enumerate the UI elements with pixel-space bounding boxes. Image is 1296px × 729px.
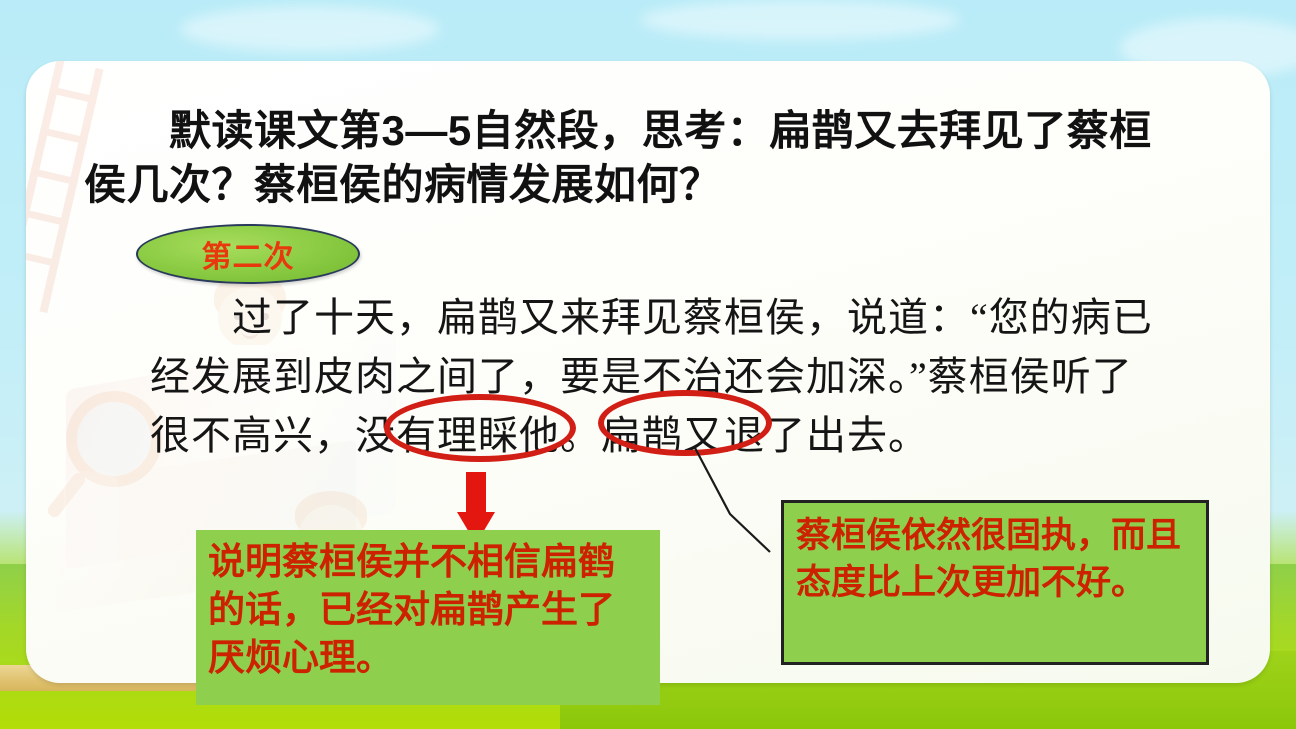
badge-label: 第二次 bbox=[202, 232, 295, 276]
child-illustration bbox=[46, 431, 142, 591]
presentation-slide: 默读课文第3—5自然段，思考：扁鹊又去拜见了蔡桓侯几次？蔡桓侯的病情发展如何？ … bbox=[0, 0, 1296, 729]
annotation-note-right: 蔡桓侯依然很固执，而且态度比上次更加不好。 bbox=[781, 500, 1209, 665]
highlight-ellipse-1 bbox=[384, 394, 576, 462]
page-title: 默读课文第3—5自然段，思考：扁鹊又去拜见了蔡桓侯几次？蔡桓侯的病情发展如何？ bbox=[84, 104, 1174, 212]
status-badge: 第二次 bbox=[136, 224, 360, 284]
cloud-decoration bbox=[180, 6, 440, 52]
cloud-decoration bbox=[640, 0, 960, 40]
annotation-note-left: 说明蔡桓侯并不相信扁鹤的话，已经对扁鹊产生了厌烦心理。 bbox=[196, 530, 660, 705]
